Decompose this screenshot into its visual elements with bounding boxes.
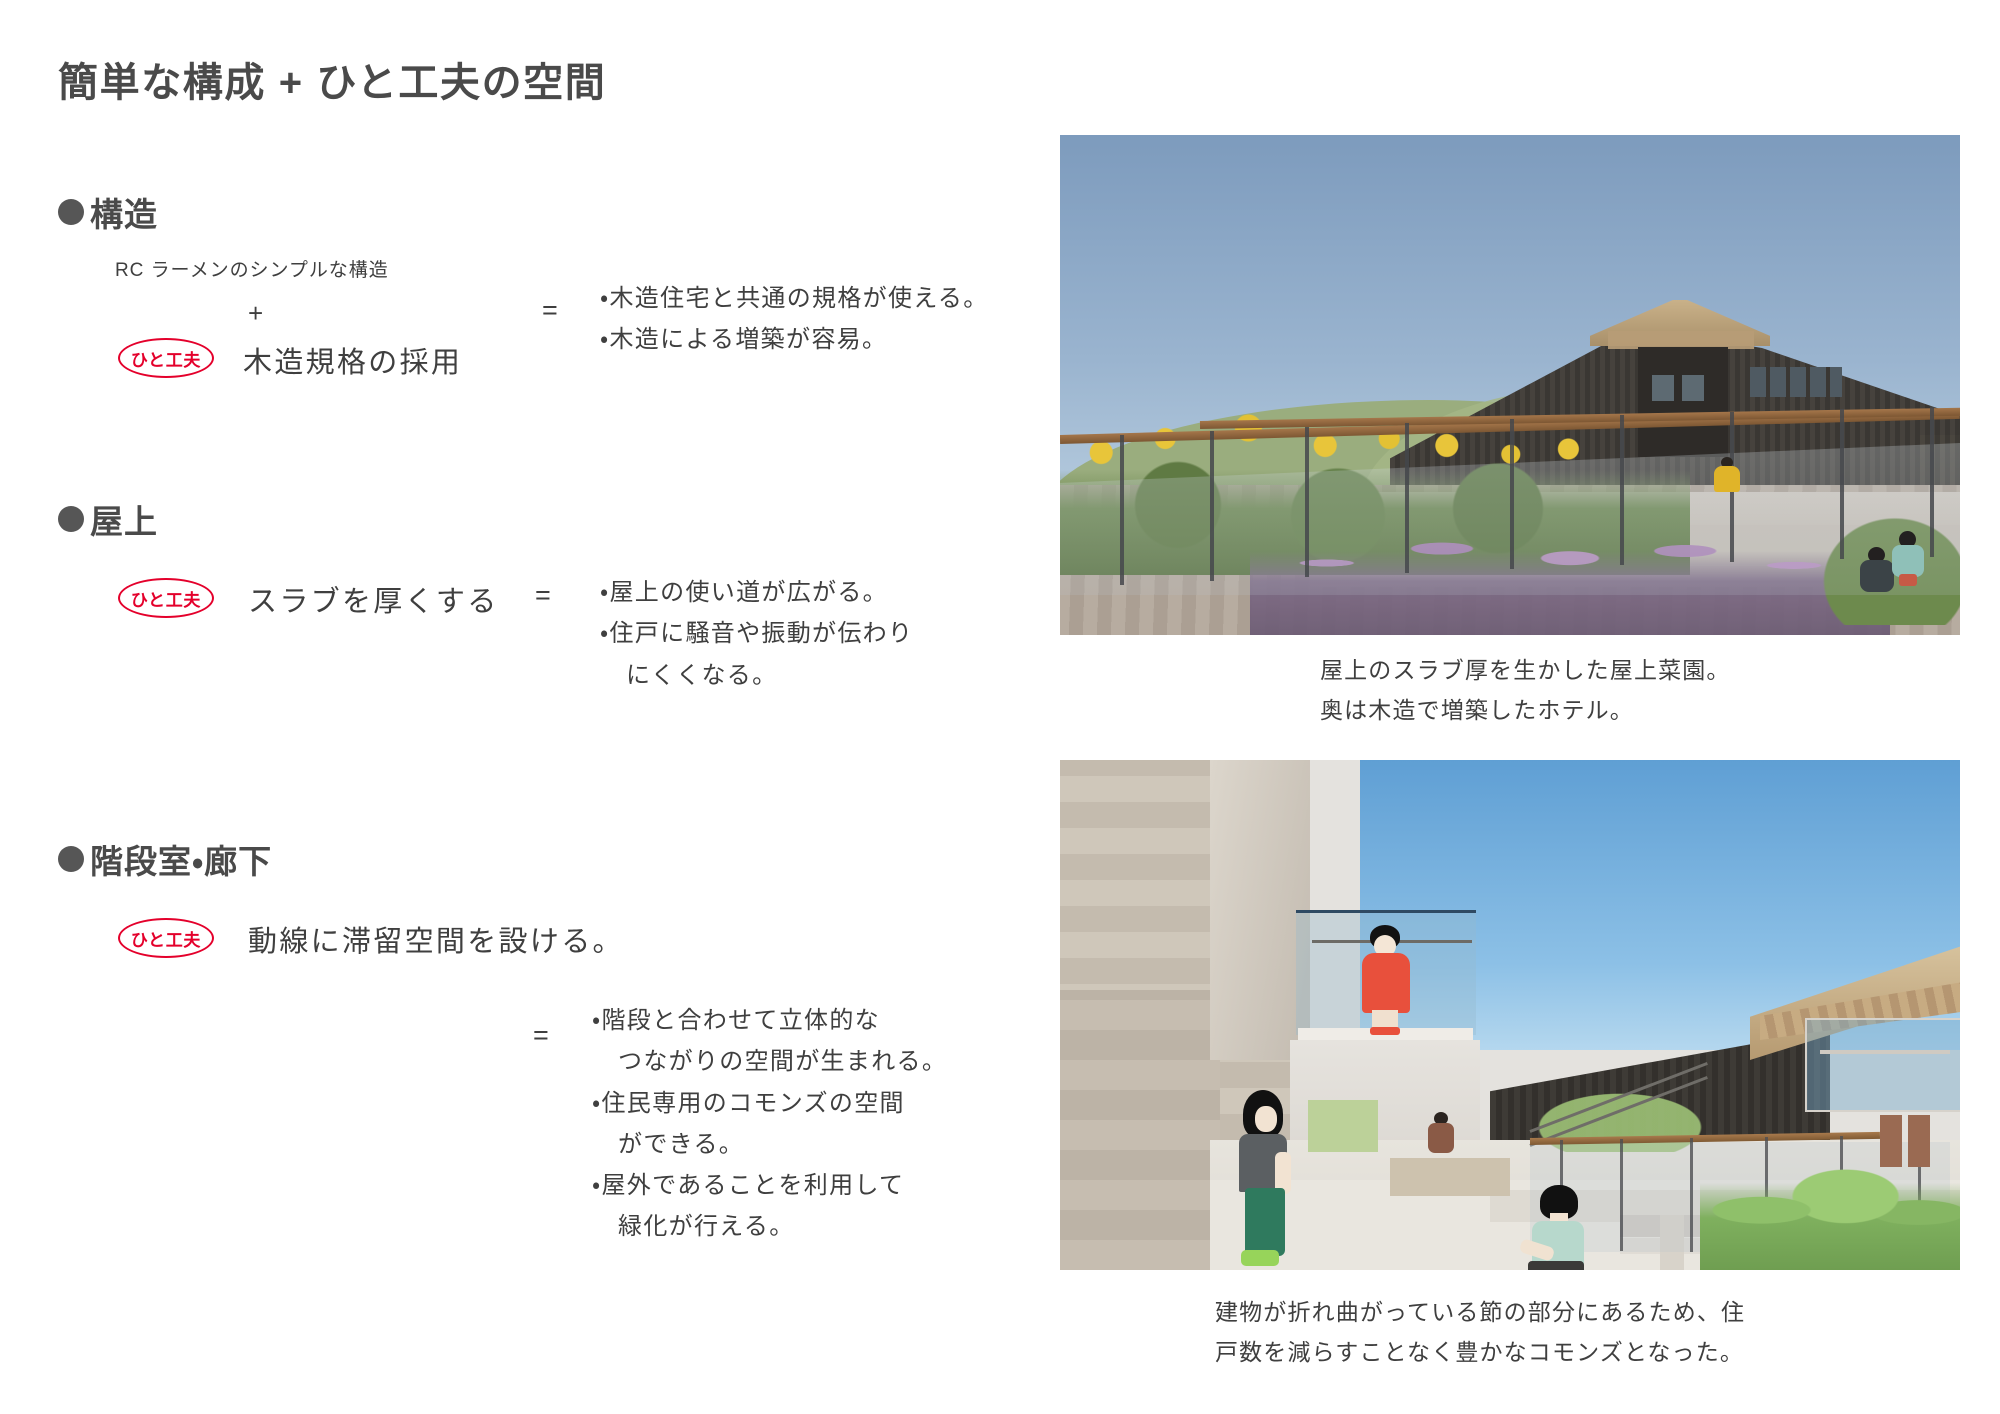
- railing-post: [1690, 1138, 1693, 1252]
- railing-post: [1305, 427, 1309, 577]
- section-heading-label: 屋上: [90, 495, 158, 543]
- stair-corridor-idea-line: 動線に滞留空間を設ける。: [248, 918, 624, 960]
- person-body: [1428, 1123, 1454, 1153]
- person-yellow: [1714, 457, 1740, 491]
- green-wall-panel: [1308, 1100, 1378, 1152]
- bullet-item: ・屋上の使い道が広がる。: [600, 572, 913, 613]
- railing-post: [1210, 431, 1214, 581]
- wall-shadow: [1210, 760, 1310, 1060]
- caption-line: 奥は木造で増築したホテル。: [1320, 690, 1731, 730]
- person-body: [1714, 466, 1740, 492]
- structure-equals-sign: =: [542, 295, 558, 326]
- person-red-dress: [1360, 925, 1412, 1035]
- section-heading-label: 階段室・廊下: [90, 835, 272, 883]
- idea-badge-stair-corridor: ひと工夫: [118, 918, 214, 958]
- person-face: [1255, 1106, 1277, 1132]
- rooftop-equals-sign: =: [535, 580, 551, 611]
- person-body: [1860, 560, 1894, 592]
- person-seated: [1528, 1185, 1598, 1270]
- person-shoes: [1370, 1027, 1400, 1035]
- bullet-item: ・住民専用のコモンズの空間: [592, 1083, 947, 1124]
- railing-post: [1405, 423, 1409, 573]
- stair-railing: [1530, 1078, 1720, 1138]
- bullet-item: 緑化が行える。: [592, 1206, 947, 1247]
- person-gardening: [1860, 547, 1894, 591]
- caption-line: 建物が折れ曲がっている節の部分にあるため、住: [1215, 1292, 1745, 1332]
- rooftop-garden-render: [1060, 135, 1960, 635]
- section-bullet-icon: [58, 199, 84, 225]
- railing-post: [1840, 409, 1844, 559]
- bullet-item: ・住戸に騒音や振動が伝わり: [600, 613, 913, 654]
- railing-post: [1620, 1139, 1623, 1251]
- person-legs: [1899, 574, 1917, 586]
- person-legs: [1528, 1261, 1584, 1270]
- section-heading-rooftop: 屋上: [58, 495, 158, 543]
- presentation-board: 簡単な構成 + ひと工夫の空間 構造 RC ラーメンのシンプルな構造 + ひと工…: [0, 0, 2000, 1414]
- structure-bullets: ・木造住宅と共通の規格が使える。 ・木造による増築が容易。: [600, 278, 989, 361]
- structure-idea-line: 木造規格の採用: [243, 339, 462, 381]
- section-bullet-icon: [58, 506, 84, 532]
- stair-corridor-equals-sign: =: [533, 1020, 549, 1051]
- structure-base-line: RC ラーメンのシンプルな構造: [115, 255, 389, 282]
- person-distant: [1428, 1112, 1454, 1154]
- commons-render-caption: 建物が折れ曲がっている節の部分にあるため、住 戸数を減らすことなく豊かなコモンズ…: [1215, 1292, 1745, 1373]
- bullet-item: ・木造による増築が容易。: [600, 319, 989, 360]
- section-heading-stair-corridor: 階段室・廊下: [58, 835, 272, 883]
- person-dress: [1362, 953, 1410, 1013]
- caption-line: 屋上のスラブ厚を生かした屋上菜園。: [1320, 650, 1731, 690]
- glazing-mullion: [1820, 1050, 1950, 1054]
- bullet-item: つながりの空間が生まれる。: [592, 1041, 947, 1082]
- structure-plus-sign: +: [248, 298, 263, 329]
- bullet-item: ・屋外であることを利用して: [592, 1165, 947, 1206]
- commons-corridor-render: [1060, 760, 1960, 1270]
- person-body: [1892, 545, 1924, 577]
- entrance-window: [1682, 375, 1704, 401]
- commons-planting: [1700, 1155, 1960, 1270]
- section-heading-structure: 構造: [58, 188, 158, 236]
- railing-post: [1930, 407, 1934, 557]
- railing-post: [1620, 415, 1624, 565]
- glazed-corridor: [1805, 1018, 1960, 1112]
- rooftop-idea-line: スラブを厚くする: [248, 578, 499, 620]
- concrete-bench: [1390, 1158, 1510, 1196]
- bullet-item: ができる。: [592, 1124, 947, 1165]
- person-pants: [1245, 1188, 1285, 1256]
- text-column: 構造 RC ラーメンのシンプルな構造 + ひと工夫 木造規格の採用 = ・木造住…: [0, 0, 1060, 1414]
- railing-post: [1120, 435, 1124, 585]
- bullet-item: にくくなる。: [600, 655, 913, 696]
- timber-textured-wall-lower: [1060, 990, 1220, 1270]
- rooftop-bullets: ・屋上の使い道が広がる。 ・住戸に騒音や振動が伝わり にくくなる。: [600, 572, 913, 696]
- bullet-item: ・木造住宅と共通の規格が使える。: [600, 278, 989, 319]
- person-standing: [1235, 1090, 1295, 1270]
- person-shoes: [1241, 1250, 1279, 1266]
- facade-window-band: [1750, 367, 1842, 397]
- person-standing: [1892, 531, 1924, 585]
- section-heading-label: 構造: [90, 188, 158, 236]
- section-bullet-icon: [58, 846, 84, 872]
- stair-corridor-bullets: ・階段と合わせて立体的な つながりの空間が生まれる。 ・住民専用のコモンズの空間…: [592, 1000, 947, 1248]
- idea-badge-structure: ひと工夫: [118, 338, 214, 378]
- idea-badge-rooftop: ひと工夫: [118, 578, 214, 618]
- rooftop-render-caption: 屋上のスラブ厚を生かした屋上菜園。 奥は木造で増築したホテル。: [1320, 650, 1731, 731]
- caption-line: 戸数を減らすことなく豊かなコモンズとなった。: [1215, 1332, 1745, 1372]
- entrance-window: [1652, 375, 1674, 401]
- bullet-item: ・階段と合わせて立体的な: [592, 1000, 947, 1041]
- railing-post: [1510, 419, 1514, 569]
